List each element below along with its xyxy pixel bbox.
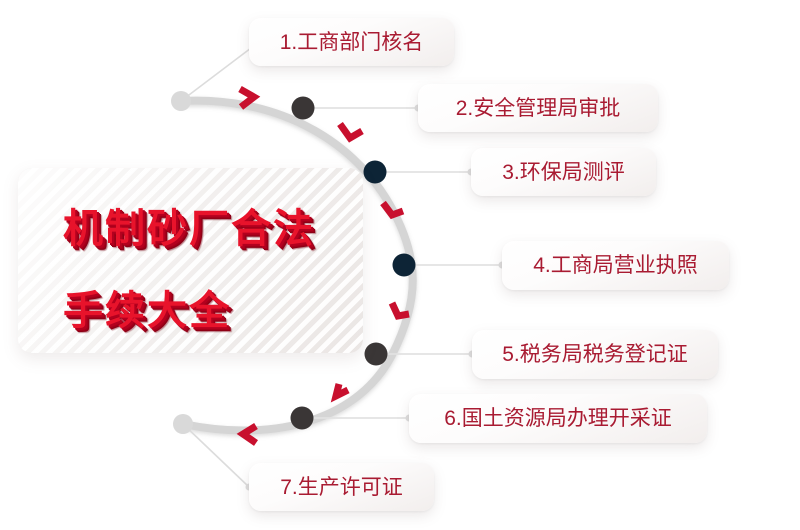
step-label-2-text: 2.安全管理局审批 [456, 98, 621, 119]
step-label-7-text: 7.生产许可证 [280, 477, 403, 498]
flow-arrow-2 [340, 124, 362, 138]
step-label-1[interactable]: 1.工商部门核名 [249, 18, 454, 66]
page-title: 机制砂厂合法 手续大全 [63, 198, 349, 342]
step-label-2[interactable]: 2.安全管理局审批 [418, 84, 658, 132]
step-label-5[interactable]: 5.税务局税务登记证 [472, 330, 718, 379]
step-node-5[interactable] [365, 343, 388, 366]
step-label-3-text: 3.环保局测评 [502, 162, 625, 183]
step-node-2[interactable] [292, 97, 315, 120]
flow-arrow-5 [336, 384, 348, 396]
step-label-6[interactable]: 6.国土资源局办理开采证 [409, 394, 707, 443]
step-node-7[interactable] [173, 414, 193, 434]
step-node-6[interactable] [291, 407, 314, 430]
step-label-4[interactable]: 4.工商局营业执照 [502, 241, 729, 290]
title-line-2: 手续大全 [63, 280, 349, 342]
step-label-7[interactable]: 7.生产许可证 [249, 463, 434, 511]
infographic-canvas: 机制砂厂合法 手续大全 1.工商部门核名 2.安全管理局审批 3.环保局测评 4… [0, 0, 800, 530]
step-label-5-text: 5.税务局税务登记证 [502, 344, 688, 365]
title-card: 机制砂厂合法 手续大全 [18, 168, 363, 353]
step-label-3[interactable]: 3.环保局测评 [471, 148, 656, 196]
step-node-4[interactable] [393, 254, 416, 277]
step-node-1[interactable] [171, 91, 191, 111]
step-label-1-text: 1.工商部门核名 [280, 32, 424, 53]
title-line-1: 机制砂厂合法 [63, 198, 349, 260]
step-node-3[interactable] [364, 161, 387, 184]
step-label-4-text: 4.工商局营业执照 [533, 255, 698, 276]
step-label-6-text: 6.国土资源局办理开采证 [444, 408, 672, 429]
